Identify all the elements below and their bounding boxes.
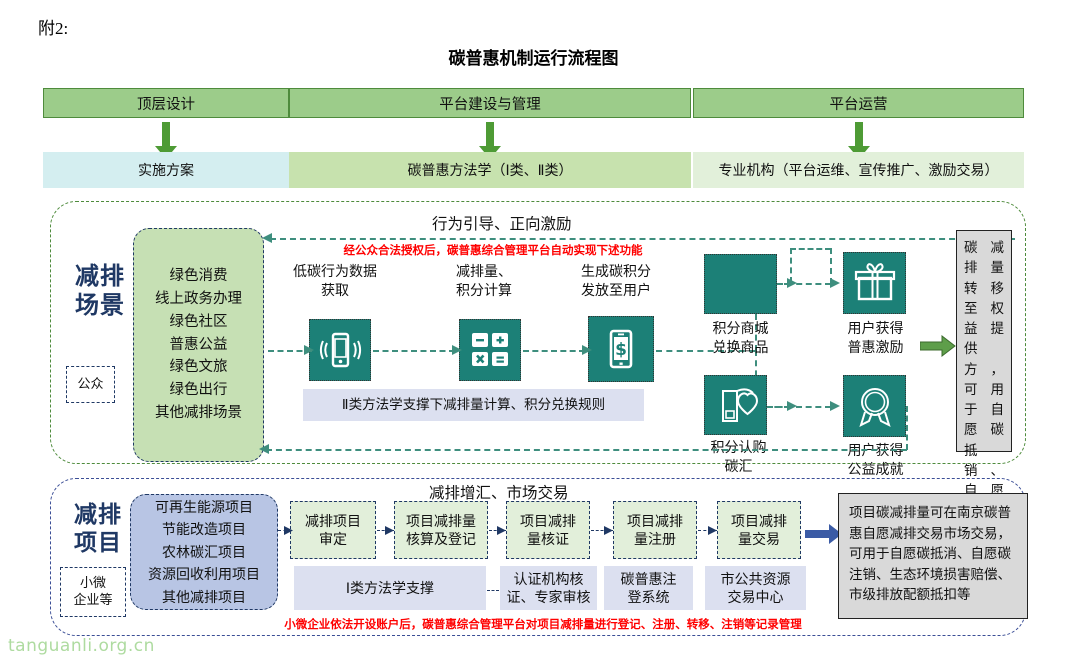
scenario-outcome-1-caption: 用户获得 普惠激励 xyxy=(830,319,921,357)
support-line-1: 市公共资源 xyxy=(721,570,791,588)
flow-step-line-1: 项目减排 xyxy=(520,512,576,530)
actor-tag-line-1: 小微 xyxy=(80,575,106,592)
arrow-left-icon-bottom xyxy=(259,443,271,455)
arrow-right-icon-gift xyxy=(828,277,840,289)
flow-step-line-1: 项目减排 xyxy=(627,512,683,530)
list-item: 可再生能源项目 xyxy=(155,496,253,518)
flow-step-line-2: 量交易 xyxy=(731,530,787,548)
arrow-right-icon-p4 xyxy=(706,525,717,536)
scenario-feedback-line-bottom xyxy=(266,449,907,451)
caption-line-2: 积分计算 xyxy=(425,281,543,300)
scenario-side-label-line2: 场景 xyxy=(55,291,145,320)
caption-line-2: 获取 xyxy=(276,281,394,300)
svg-text:$: $ xyxy=(615,340,627,360)
arrow-left-icon-top xyxy=(262,232,274,244)
list-item: 绿色消费 xyxy=(170,265,228,288)
scenario-outcome-2-caption: 积分认购 碳汇 xyxy=(688,438,789,476)
caption-line-1: 用户获得 xyxy=(830,319,921,338)
flow-step-line-2: 审定 xyxy=(305,530,361,548)
caption-line-2: 公益成就 xyxy=(830,460,921,479)
mobile-vibrate-icon xyxy=(309,319,371,381)
list-item: 绿色社区 xyxy=(170,311,228,334)
flow-line-b xyxy=(373,350,455,352)
list-item: 其他减排项目 xyxy=(162,586,246,608)
project-section-title: 减排增汇、市场交易 xyxy=(429,481,569,503)
caption-line-1: 减排量、 xyxy=(425,262,543,281)
support-line-2: 登系统 xyxy=(621,588,677,606)
caption-line-1: 低碳行为数据 xyxy=(276,262,394,281)
scenario-red-note: 经公众合法授权后，碳普惠综合管理平台自动实现下述功能 xyxy=(283,242,703,258)
list-item: 线上政务办理 xyxy=(155,288,242,311)
header-col-2-sub: 专业机构（平台运维、宣传推广、激励交易） xyxy=(693,152,1024,188)
scenario-step-0-caption: 低碳行为数据 获取 xyxy=(276,262,394,300)
award-ribbon-icon xyxy=(843,375,906,437)
gift-left-vert xyxy=(790,248,792,283)
scenario-actor-tag: 公众 xyxy=(66,366,115,403)
arrow-right-icon-p0 xyxy=(282,525,293,536)
page-title: 碳普惠机制运行流程图 xyxy=(0,44,1067,69)
flow-line-c xyxy=(523,350,585,352)
watermark: tanguanli.org.cn xyxy=(8,636,155,656)
arrow-right-icon-b xyxy=(450,344,462,356)
scenario-list: 绿色消费 线上政务办理 绿色社区 普惠公益 绿色文旅 绿色出行 其他减排场景 xyxy=(133,228,264,462)
mobile-dollar-icon: $ xyxy=(588,316,654,382)
list-item: 节能改造项目 xyxy=(162,518,246,540)
header-col-1-title: 平台建设与管理 xyxy=(289,88,691,118)
arrow-right-icon-p2 xyxy=(495,525,506,536)
award-return-vert xyxy=(906,406,908,450)
scenario-side-label: 减排 场景 xyxy=(55,262,145,321)
attachment-label: 附2: xyxy=(38,14,68,39)
flowchart-page: 附2: 碳普惠机制运行流程图 顶层设计 平台建设与管理 平台运营 实施方案 碳普… xyxy=(0,0,1067,662)
arrow-right-icon-c xyxy=(580,344,592,356)
caption-line-2: 发放至用户 xyxy=(557,281,675,300)
project-flow-step-1: 项目减排量 核算及登记 xyxy=(394,501,488,559)
list-item: 其他减排场景 xyxy=(155,402,242,425)
actor-tag-line-2: 企业等 xyxy=(73,592,112,609)
list-item: 普惠公益 xyxy=(170,334,228,357)
project-flow-step-2: 项目减排 量核证 xyxy=(506,501,590,559)
arrow-right-icon-award xyxy=(828,400,840,412)
project-red-note: 小微企业依法开设账户后，碳普惠综合管理平台对项目减排量进行登记、注册、转移、注销… xyxy=(265,616,821,632)
project-support-1: 认证机构核 证、专家审核 xyxy=(500,566,597,610)
right-arrow-icon-transfer xyxy=(920,335,956,357)
carbon-to-award-line xyxy=(767,406,831,408)
project-support-0: Ⅰ类方法学支撑 xyxy=(294,566,486,610)
project-side-label: 减排 项目 xyxy=(55,500,141,556)
project-list: 可再生能源项目 节能改造项目 农林碳汇项目 资源回收利用项目 其他减排项目 xyxy=(130,494,278,610)
project-flow-step-0: 减排项目 审定 xyxy=(290,501,376,559)
caption-line-2: 碳汇 xyxy=(688,457,789,476)
caption-line-1: 积分商城 xyxy=(690,319,791,338)
scenario-outcome-0-caption: 积分商城 兑换商品 xyxy=(690,319,791,357)
scenario-methodology-note: Ⅱ类方法学支撑下减排量计算、积分兑换规则 xyxy=(303,389,644,421)
project-market-note: 项目碳减排量可在南京碳普惠自愿减排交易市场交易，可用于自愿碳抵消、自愿碳注销、生… xyxy=(838,493,1028,619)
store-icon xyxy=(704,254,777,314)
flow-step-line-1: 项目减排 xyxy=(731,512,787,530)
project-side-label-line2: 项目 xyxy=(55,528,141,556)
flow-step-line-2: 核算及登记 xyxy=(406,530,476,548)
flow-step-line-2: 量核证 xyxy=(520,530,576,548)
project-support-2: 碳普惠注 登系统 xyxy=(604,566,693,610)
support-line-1: 碳普惠注 xyxy=(621,570,677,588)
list-item: 农林碳汇项目 xyxy=(162,541,246,563)
gift-icon xyxy=(843,252,906,314)
list-item: 资源回收利用项目 xyxy=(148,563,260,585)
header-col-0-sub: 实施方案 xyxy=(43,152,289,188)
flow-step-line-2: 量注册 xyxy=(627,530,683,548)
project-flow-step-4: 项目减排 量交易 xyxy=(717,501,801,559)
project-support-3: 市公共资源 交易中心 xyxy=(705,566,806,610)
header-col-0-title: 顶层设计 xyxy=(43,88,289,118)
project-actor-tag: 小微 企业等 xyxy=(60,567,126,617)
scenario-transfer-note: 碳减排量转移至权益提供方，可用于自愿碳抵销、自愿碳注销等 xyxy=(956,230,1012,452)
scenario-feedback-line-top xyxy=(270,238,1015,240)
caption-line-2: 兑换商品 xyxy=(690,338,791,357)
flow-step-line-1: 项目减排量 xyxy=(406,512,476,530)
header-col-2-title: 平台运营 xyxy=(693,88,1024,118)
arrow-right-icon-p3 xyxy=(602,525,613,536)
list-item: 绿色出行 xyxy=(170,379,228,402)
scenario-step-1-caption: 减排量、 积分计算 xyxy=(425,262,543,300)
caption-line-1: 生成碳积分 xyxy=(557,262,675,281)
support-line-2: 交易中心 xyxy=(721,588,791,606)
gift-top-line xyxy=(790,248,831,250)
caption-line-1: 积分认购 xyxy=(688,438,789,457)
project-side-label-line1: 减排 xyxy=(55,500,141,528)
store-to-gift-line xyxy=(777,283,831,285)
support-line-1: 认证机构核 xyxy=(507,570,591,588)
calculator-icon xyxy=(459,319,521,381)
support-connector xyxy=(487,590,499,591)
mobile-heart-icon xyxy=(704,375,767,435)
header-col-1-sub: 碳普惠方法学（Ⅰ类、Ⅱ类） xyxy=(289,152,691,188)
scenario-step-2-caption: 生成碳积分 发放至用户 xyxy=(557,262,675,300)
scenario-side-label-line1: 减排 xyxy=(55,262,145,291)
list-item: 绿色文旅 xyxy=(170,356,228,379)
arrow-right-icon-p1 xyxy=(383,525,394,536)
flow-step-line-1: 减排项目 xyxy=(305,512,361,530)
arrow-right-icon-a xyxy=(302,344,314,356)
project-flow-step-3: 项目减排 量注册 xyxy=(613,501,697,559)
caption-line-2: 普惠激励 xyxy=(830,338,921,357)
support-line-2: 证、专家审核 xyxy=(507,588,591,606)
scenario-section-title: 行为引导、正向激励 xyxy=(432,212,572,234)
